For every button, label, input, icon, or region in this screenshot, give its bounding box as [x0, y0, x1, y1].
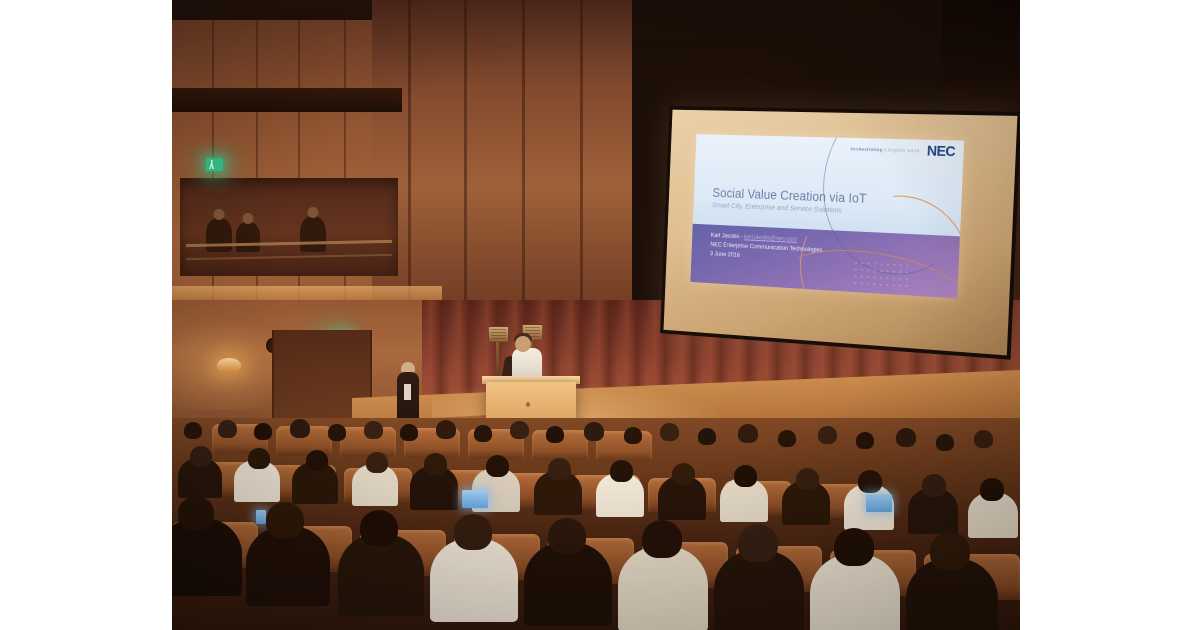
audience-figure [338, 534, 424, 616]
audience-head [660, 423, 679, 441]
audience-head [672, 463, 695, 485]
audience-head [510, 421, 529, 439]
slide-presenter-name: Karl Jacobs - [711, 232, 744, 240]
auditorium-photograph: Orchestrating a brighter world NEC Socia… [172, 0, 1020, 630]
audience-head [698, 428, 716, 445]
audience-figure [172, 518, 242, 596]
audience-head [856, 432, 874, 449]
audience-head [936, 434, 954, 451]
audience-head [266, 502, 304, 538]
audience-figure [430, 538, 518, 622]
nec-tagline-rest: a brighter world [883, 147, 920, 153]
audience-head [834, 528, 874, 566]
audience-head [184, 422, 202, 439]
audience-head [922, 474, 946, 497]
nec-tagline: Orchestrating a brighter world [850, 146, 919, 153]
audience-head [436, 420, 456, 439]
balcony-railing-lower [186, 254, 392, 260]
audience-head [610, 460, 633, 482]
audience-head [624, 427, 642, 444]
audience-phone-screen [256, 510, 266, 524]
audience-head [858, 470, 882, 493]
audience-head [178, 496, 214, 530]
audience-head [796, 468, 819, 490]
audience-figure [618, 546, 708, 630]
audience-head [400, 424, 418, 441]
audience-head [486, 455, 509, 477]
audience-head [548, 518, 586, 554]
projection-screen: Orchestrating a brighter world NEC Socia… [660, 106, 1020, 360]
audience-head [190, 446, 212, 467]
audience-head [366, 452, 388, 473]
nec-tagline-lead: Orchestrating [850, 146, 882, 152]
presentation-slide: Orchestrating a brighter world NEC Socia… [690, 134, 964, 298]
wall-sconce-light [217, 358, 241, 372]
seated-audience [172, 418, 1020, 630]
audience-head [642, 520, 682, 558]
presenter-head [515, 336, 531, 352]
audience-head [980, 478, 1004, 501]
audience-head [474, 425, 492, 442]
audience-tablet-screen [866, 494, 892, 512]
audience-figure [714, 550, 804, 630]
audience-head [734, 465, 757, 487]
audience-figure [524, 542, 612, 626]
exit-sign-upper [206, 158, 223, 171]
audience-head [424, 453, 447, 475]
audience-tablet-screen [462, 490, 488, 508]
nec-logo: NEC [927, 143, 956, 158]
audience-head [364, 421, 383, 439]
photo-canvas: Orchestrating a brighter world NEC Socia… [0, 0, 1200, 630]
balcony-front-face [172, 88, 402, 112]
audience-head [818, 426, 837, 444]
attendant-shirt [404, 384, 411, 400]
audience-head [360, 510, 398, 546]
audience-head [218, 420, 237, 438]
audience-head [584, 422, 604, 441]
center-wall-panels [372, 0, 632, 300]
audience-head [248, 448, 270, 469]
audience-head [896, 428, 916, 447]
audience-head [738, 424, 758, 443]
audience-head [548, 458, 571, 480]
audience-head [306, 450, 328, 471]
audience-head [328, 424, 346, 441]
audience-head [290, 419, 310, 438]
audience-head [778, 430, 796, 447]
audience-head [454, 514, 492, 550]
slide-dot-grid [852, 259, 912, 289]
audience-head [974, 430, 993, 448]
audience-figure [246, 526, 330, 606]
audience-head [254, 423, 272, 440]
audience-head [738, 524, 778, 562]
microphone-head-left [488, 326, 509, 342]
audience-head [546, 426, 564, 443]
audience-head [930, 532, 970, 570]
